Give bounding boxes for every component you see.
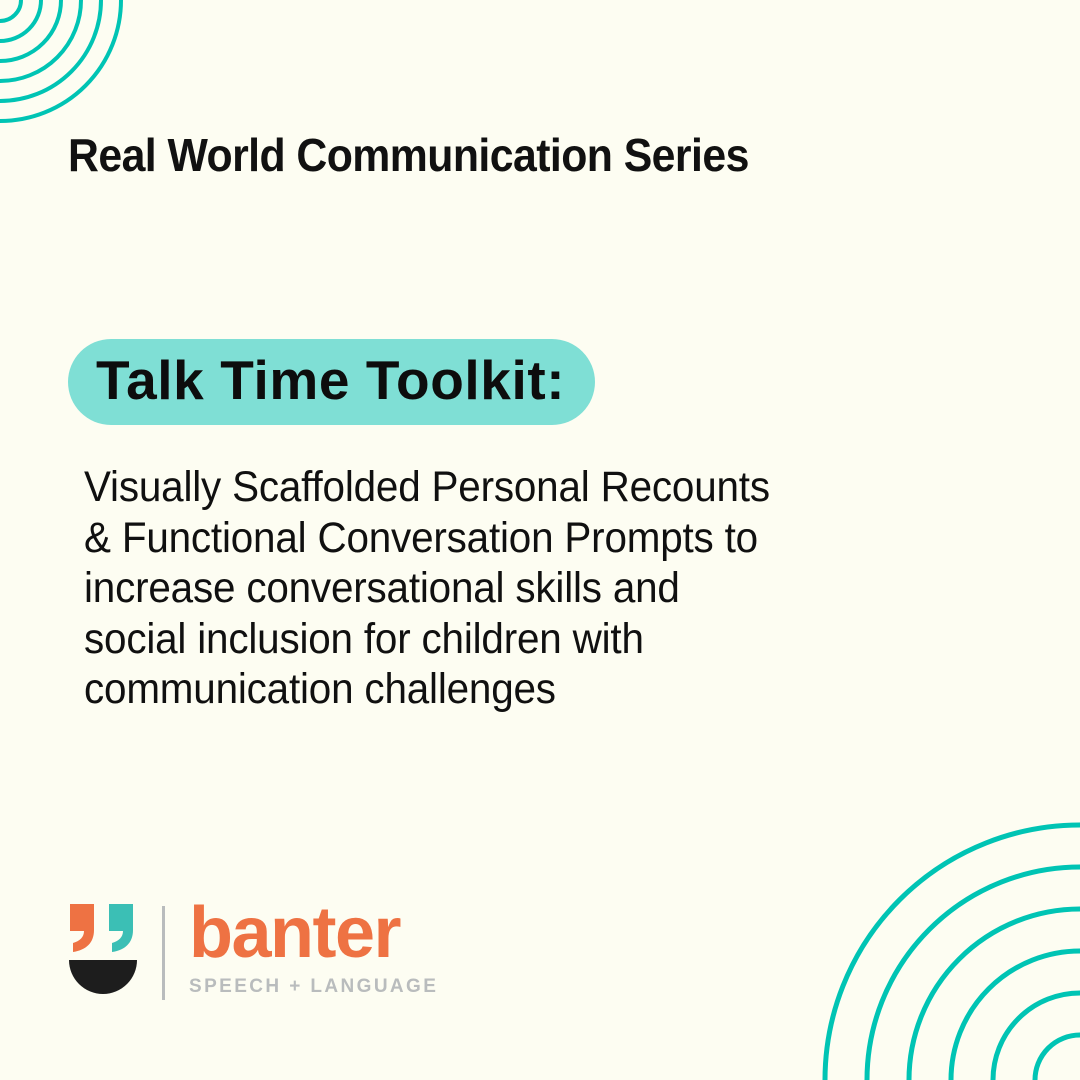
body-line: communication challenges [84,664,911,715]
body-line: Visually Scaffolded Personal Recounts [84,462,911,513]
logo-divider [162,906,165,1000]
toolkit-heading-label: Talk Time Toolkit: [96,353,565,408]
body-line: social inclusion for children with [84,614,911,665]
decorative-arcs-bottom-right [780,780,1080,1080]
page-title: Real World Communication Series [68,131,749,181]
logo-wordmark: banter [189,904,438,964]
body-line: increase conversational skills and [84,563,911,614]
logo-tagline: SPEECH + LANGUAGE [189,976,438,998]
body-description: Visually Scaffolded Personal Recounts & … [84,462,911,715]
banter-smiley-icon [64,902,142,1002]
toolkit-heading-pill: Talk Time Toolkit: [68,339,595,425]
brand-logo-lockup: banter SPEECH + LANGUAGE [64,902,438,1002]
logo-text-block: banter SPEECH + LANGUAGE [189,902,438,1002]
poster-canvas: Real World Communication Series Talk Tim… [0,0,1080,1080]
body-line: & Functional Conversation Prompts to [84,513,911,564]
